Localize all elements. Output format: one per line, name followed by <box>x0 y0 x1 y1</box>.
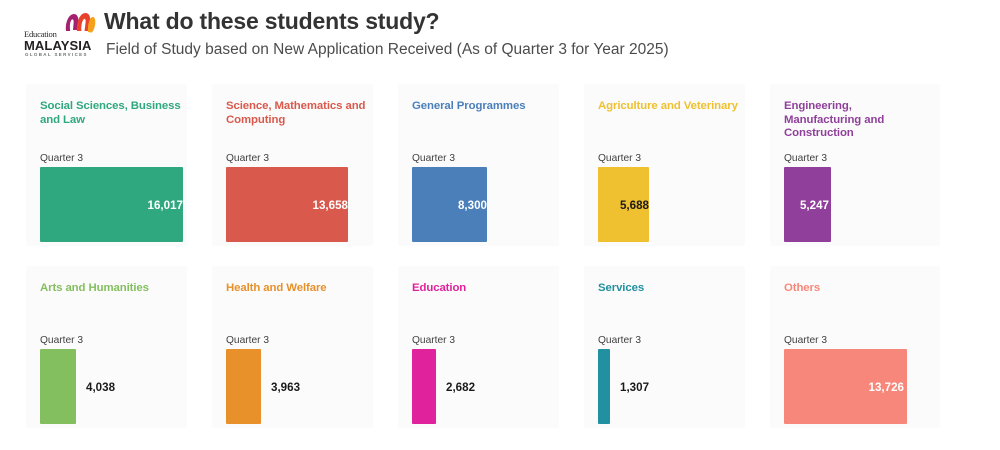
bar-value-label: 3,963 <box>271 381 300 394</box>
card-title: Education <box>412 282 558 296</box>
card-title: Science, Mathematics and Computing <box>226 100 372 127</box>
card-science-mathematics-computing[interactable]: Science, Mathematics and Computing Quart… <box>212 84 373 246</box>
quarter-label: Quarter 3 <box>226 335 269 346</box>
card-title: General Programmes <box>412 100 558 114</box>
page-subtitle: Field of Study based on New Application … <box>106 41 669 59</box>
bar-area: 2,682 <box>412 349 562 424</box>
card-row-1: Social Sciences, Business and Law Quarte… <box>0 84 1000 266</box>
quarter-label: Quarter 3 <box>412 335 455 346</box>
logo-malaysia-text: MALAYSIA <box>24 38 92 53</box>
bar-area: 13,658 <box>226 167 376 242</box>
quarter-label: Quarter 3 <box>598 153 641 164</box>
page-title: What do these students study? <box>104 8 439 35</box>
card-row-2: Arts and Humanities Quarter 3 4,038 Heal… <box>0 266 1000 448</box>
bar-value-label: 13,658 <box>313 199 348 212</box>
bar-value-label: 4,038 <box>86 381 115 394</box>
card-arts-humanities[interactable]: Arts and Humanities Quarter 3 4,038 <box>26 266 187 428</box>
bar-value-label: 1,307 <box>620 381 649 394</box>
bar-value-label: 2,682 <box>446 381 475 394</box>
card-education[interactable]: Education Quarter 3 2,682 <box>398 266 559 428</box>
field-of-study-grid: Social Sciences, Business and Law Quarte… <box>0 84 1000 448</box>
bar-area: 5,247 <box>784 167 934 242</box>
card-engineering-manufacturing-construction[interactable]: Engineering, Manufacturing and Construct… <box>770 84 940 246</box>
card-title: Arts and Humanities <box>40 282 186 296</box>
card-title: Engineering, Manufacturing and Construct… <box>784 100 930 141</box>
quarter-label: Quarter 3 <box>412 153 455 164</box>
card-general-programmes[interactable]: General Programmes Quarter 3 8,300 <box>398 84 559 246</box>
card-agriculture-veterinary[interactable]: Agriculture and Veterinary Quarter 3 5,6… <box>584 84 745 246</box>
card-title: Services <box>598 282 744 296</box>
bar-area: 3,963 <box>226 349 376 424</box>
bar-area: 4,038 <box>40 349 190 424</box>
value-bar[interactable] <box>412 349 436 424</box>
bar-value-label: 8,300 <box>458 199 487 212</box>
page-header: Education MALAYSIA GLOBAL SERVICES What … <box>0 0 1000 78</box>
card-title: Others <box>784 282 930 296</box>
card-title: Health and Welfare <box>226 282 372 296</box>
bar-area: 5,688 <box>598 167 748 242</box>
bar-area: 13,726 <box>784 349 934 424</box>
bar-value-label: 5,688 <box>620 199 649 212</box>
quarter-label: Quarter 3 <box>784 335 827 346</box>
bar-value-label: 13,726 <box>869 381 904 394</box>
bar-value-label: 16,017 <box>148 199 183 212</box>
card-others[interactable]: Others Quarter 3 13,726 <box>770 266 940 428</box>
bar-value-label: 5,247 <box>800 199 829 212</box>
card-title: Agriculture and Veterinary <box>598 100 744 114</box>
bar-area: 16,017 <box>40 167 190 242</box>
quarter-label: Quarter 3 <box>598 335 641 346</box>
bar-area: 1,307 <box>598 349 748 424</box>
education-malaysia-logo: Education MALAYSIA GLOBAL SERVICES <box>24 10 100 58</box>
logo-tagline-text: GLOBAL SERVICES <box>25 52 88 57</box>
quarter-label: Quarter 3 <box>40 335 83 346</box>
quarter-label: Quarter 3 <box>784 153 827 164</box>
card-services[interactable]: Services Quarter 3 1,307 <box>584 266 745 428</box>
value-bar[interactable] <box>598 349 610 424</box>
card-title: Social Sciences, Business and Law <box>40 100 186 127</box>
value-bar[interactable] <box>40 349 76 424</box>
value-bar[interactable] <box>226 349 261 424</box>
bar-area: 8,300 <box>412 167 562 242</box>
quarter-label: Quarter 3 <box>40 153 83 164</box>
em-swoosh-logo-icon <box>64 10 96 34</box>
quarter-label: Quarter 3 <box>226 153 269 164</box>
card-health-welfare[interactable]: Health and Welfare Quarter 3 3,963 <box>212 266 373 428</box>
card-social-sciences-business-law[interactable]: Social Sciences, Business and Law Quarte… <box>26 84 187 246</box>
